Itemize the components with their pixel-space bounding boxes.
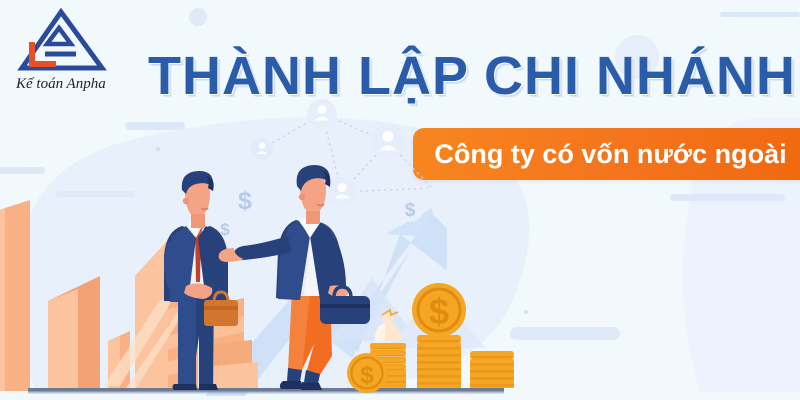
ke-toan-anpha-logo[interactable]: Kế toán Anpha [14, 6, 114, 94]
coin-stack-medium [470, 351, 514, 388]
decor-bar-top-right [720, 12, 800, 17]
svg-text:$: $ [238, 187, 252, 215]
coin-front-left: $ [347, 353, 387, 393]
svg-text:$: $ [429, 291, 449, 332]
svg-text:$: $ [405, 200, 416, 221]
logo-wordmark: Kế toán Anpha [15, 76, 106, 92]
coin-top-tall: $ [412, 283, 466, 337]
ground-line [28, 388, 504, 394]
svg-text:$: $ [360, 362, 374, 389]
network-node [307, 99, 337, 129]
network-diagram [251, 99, 432, 207]
banner-root: Kế toán Anpha THÀNH LẬP CHI NHÁNH Công t… [0, 0, 800, 400]
decor-dot-top [189, 8, 207, 26]
network-node [327, 177, 357, 207]
dollar-chip: $ [226, 181, 264, 219]
business-handshake-growth-illustration: $ $ $ [0, 96, 800, 400]
dollar-chip: $ [396, 194, 424, 222]
network-node [251, 138, 273, 160]
network-node [370, 124, 406, 160]
coin-stack-tall: $ [412, 283, 466, 388]
